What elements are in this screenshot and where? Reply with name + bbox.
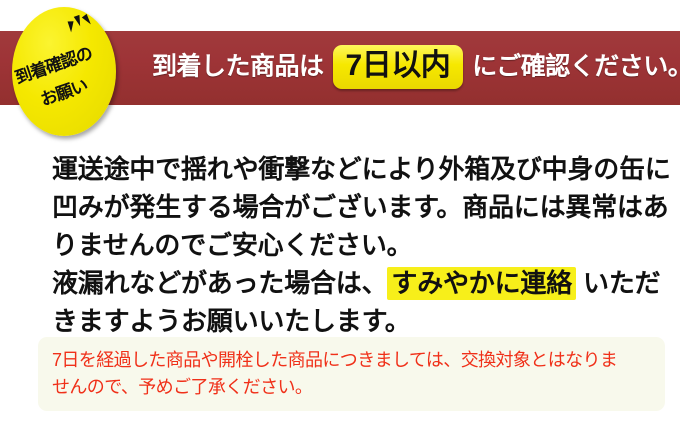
sparkle-mark-right — [82, 14, 93, 26]
body-line-4-before: 液漏れなどがあった場合は、 — [52, 268, 387, 298]
arrival-confirmation-notice: 到着した商品は7日以内にご確認ください。 到着確認の お願い 運送途中で揺れや衝… — [0, 0, 680, 421]
header-text-before: 到着した商品は — [152, 53, 324, 81]
sparkle-icon — [63, 9, 102, 36]
body-paragraph: 運送途中で揺れや衝撃などにより外箱及び中身の缶に 凹みが発生する場合がございます… — [52, 150, 652, 340]
body-line-1: 運送途中で揺れや衝撃などにより外箱及び中身の缶に — [52, 150, 652, 188]
prompt-contact-highlight: すみやかに連絡 — [387, 267, 576, 300]
footnote-panel: 7日を経過した商品や開栓した商品につきましては、交換対象とはなりま せんので、予… — [38, 337, 665, 411]
arrival-check-badge: 到着確認の お願い — [12, 7, 116, 136]
header-text-after: にご確認ください。 — [472, 53, 680, 81]
badge-text-group: 到着確認の お願い — [12, 7, 116, 136]
body-line-4: 液漏れなどがあった場合は、すみやかに連絡 いただ — [52, 264, 652, 302]
body-line-3: りませんのでご安心ください。 — [52, 226, 652, 264]
header-message: 到着した商品は7日以内にご確認ください。 — [152, 46, 680, 90]
badge-line-2: お願い — [38, 77, 89, 109]
body-line-2: 凹みが発生する場合がございます。商品には異常はあ — [52, 188, 652, 226]
sparkle-mark-left — [68, 21, 75, 32]
footnote-line-1: 7日を経過した商品や開栓した商品につきましては、交換対象とはなりま — [52, 347, 665, 374]
header-days-highlight: 7日以内 — [333, 45, 464, 89]
body-line-4-after: いただ — [576, 268, 660, 298]
footnote-line-2: せんので、予めご了承ください。 — [52, 374, 665, 401]
body-line-5: きますようお願いいたします。 — [52, 302, 652, 340]
